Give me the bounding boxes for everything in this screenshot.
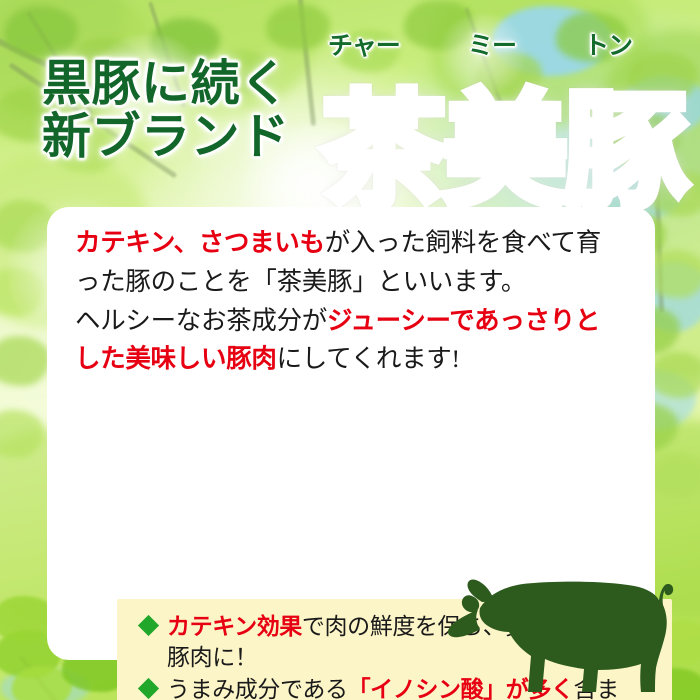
lead-paragraph: カテキン、さつまいもが入った飼料を食べて育 った豚のことを「茶美豚」といいます。… (75, 224, 631, 379)
lead-line-1: カテキン、さつまいもが入った飼料を食べて育 (75, 224, 631, 263)
lead-line-4-rest: にしてくれます! (277, 344, 460, 373)
headline-left: 黒豚に続く 新ブランド (42, 58, 322, 164)
lead-line-3-emphasis: ジューシーであっさりと (327, 306, 600, 335)
lead-line-3: ヘルシーなお茶成分がジューシーであっさりと (75, 302, 631, 341)
headline-line-1: 黒豚に続く (42, 58, 322, 111)
brand-title-fill: 茶美豚 (322, 55, 685, 193)
lead-line-1-rest: が入った飼料を食べて育 (325, 228, 601, 257)
header: 黒豚に続く 新ブランド チャー ミー トン 茶美豚 茶美豚 (0, 0, 700, 195)
diamond-icon (138, 615, 159, 636)
headline-line-2: 新ブランド (42, 111, 322, 164)
lead-line-3-rest: ヘルシーなお茶成分が (75, 306, 327, 335)
list-item-pre: うまみ成分である (167, 676, 348, 700)
lead-line-4-emphasis: した美味しい豚肉 (75, 344, 277, 373)
pig-silhouette (446, 572, 674, 694)
lead-line-2: った豚のことを「茶美豚」といいます。 (75, 263, 631, 302)
list-item-emphasis: カテキン効果 (167, 613, 302, 639)
promo-poster: 黒豚に続く 新ブランド チャー ミー トン 茶美豚 茶美豚 カテキン、さつまいも… (0, 0, 700, 700)
diamond-icon (138, 678, 159, 699)
brand-block: チャー ミー トン 茶美豚 茶美豚 (322, 26, 692, 186)
brand-title: 茶美豚 茶美豚 (322, 62, 692, 186)
lead-line-1-emphasis: カテキン、さつまいも (75, 228, 325, 257)
lead-line-4: した美味しい豚肉にしてくれます! (75, 340, 631, 379)
